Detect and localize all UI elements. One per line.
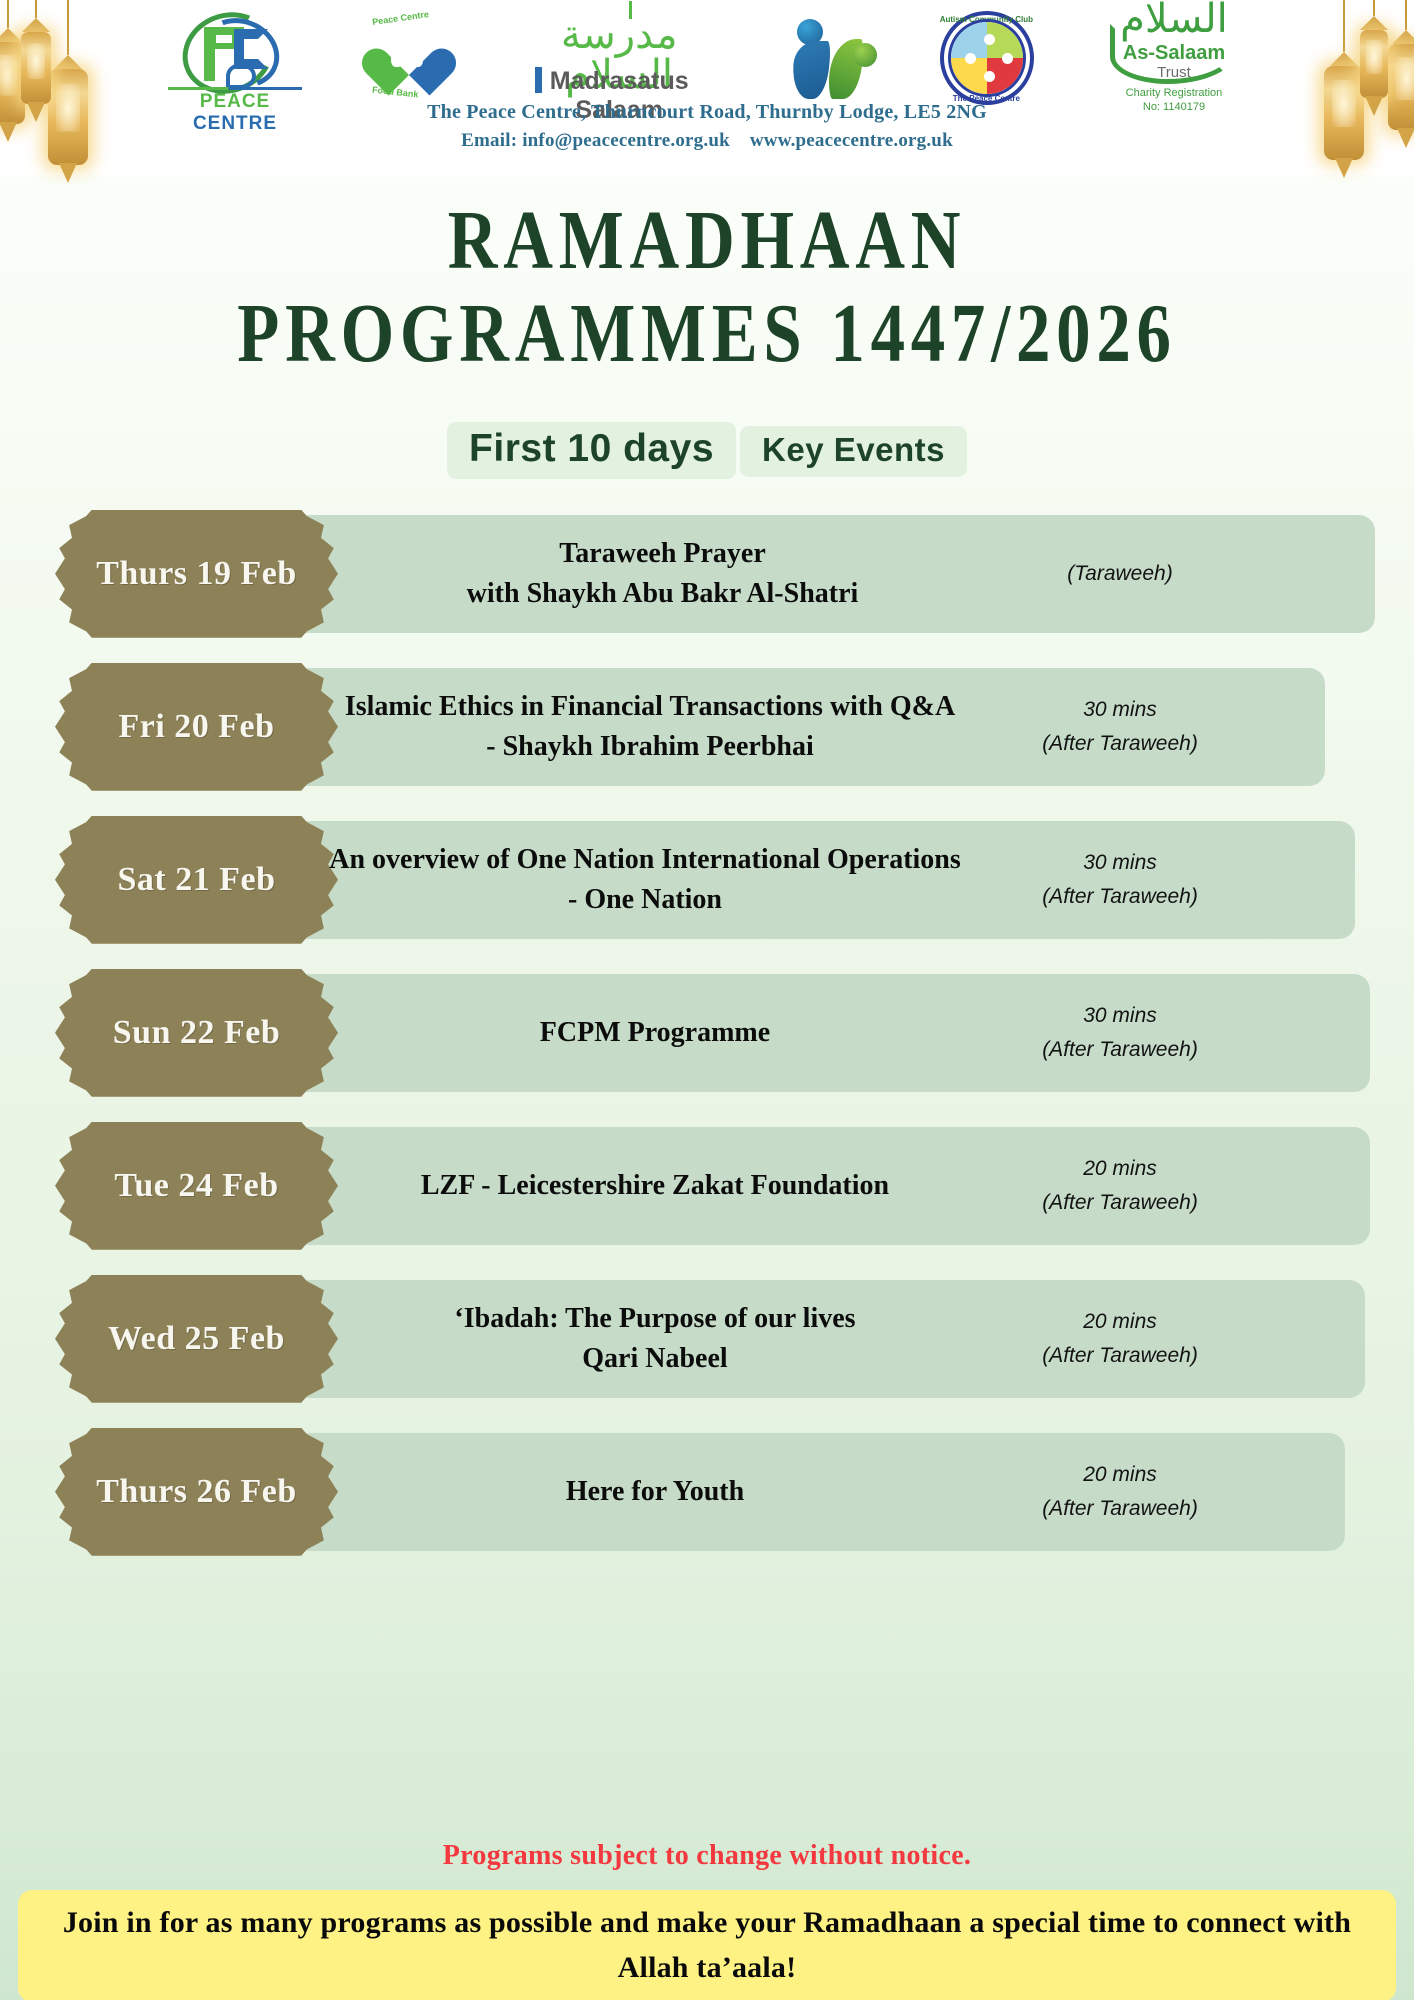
peace-centre-food-bank-logo: Peace Centre Food Bank [366,9,452,109]
event-timing: (After Taraweeh) [1042,1186,1198,1220]
ramadhaan-programme-poster: PEACE CENTRE Peace Centre Food Bank [0,0,1414,2000]
subtitle-badges: First 10 days Key Events [0,412,1414,479]
address-line: The Peace Centre, Thurncourt Road, Thurn… [0,98,1414,127]
event-timing: (Taraweeh) [1067,557,1172,591]
puzzle-knob-top [984,34,995,45]
event-date-label: Thurs 19 Feb [96,555,297,593]
as-salaam-english: As-Salaam [1094,42,1254,65]
event-title-line-1: Taraweeh Prayer [559,534,766,574]
badge-first-10-days: First 10 days [447,422,736,479]
food-bank-arc-top-label: Peace Centre [371,9,429,27]
event-date-badge: Sun 22 Feb [55,969,338,1097]
event-date-badge: Sat 21 Feb [55,816,338,944]
event-duration-note: 30 mins(After Taraweeh) [955,668,1285,786]
cta-line-2: Allah ta’aala! [618,1951,797,1984]
event-date-badge: Wed 25 Feb [55,1275,338,1403]
puzzle-wheel-icon [948,19,1026,97]
event-duration: 20 mins [1083,1152,1157,1186]
event-row: Fri 20 FebIslamic Ethics in Financial Tr… [55,668,1384,786]
email-text[interactable]: Email: info@peacecentre.org.uk [461,130,730,151]
contact-line: Email: info@peacecentre.org.ukwww.peacec… [0,127,1414,155]
call-to-action-banner: Join in for as many programs as possible… [18,1890,1396,2000]
event-row: Tue 24 FebLZF - Leicestershire Zakat Fou… [55,1127,1384,1245]
event-date-label: Thurs 26 Feb [96,1473,297,1511]
event-title: Taraweeh Prayerwith Shaykh Abu Bakr Al-S… [355,515,970,633]
event-duration: 30 mins [1083,846,1157,880]
poster-title-block: RAMADHAAN PROGRAMMES 1447/2026 [0,197,1414,378]
person-body-right-icon [411,51,423,67]
event-duration: 30 mins [1083,999,1157,1033]
event-title-line-1: Islamic Ethics in Financial Transactions… [345,687,955,727]
autism-community-club-logo: Autism Community Club The Peace Centre [936,9,1036,109]
cta-line-1: Join in for as many programs as possible… [63,1906,1351,1939]
event-title-line-2: with Shaykh Abu Bakr Al-Shatri [467,574,859,614]
event-title-line-1: An overview of One Nation International … [329,840,961,880]
website-text[interactable]: www.peacecentre.org.uk [750,130,953,151]
puzzle-knob-left [965,53,976,64]
event-date-label: Wed 25 Feb [108,1320,285,1358]
event-duration: 30 mins [1083,693,1157,727]
person-body-left-icon [391,51,403,67]
event-date-label: Fri 20 Feb [118,708,274,746]
person-head-left-icon [393,41,402,50]
page-title-line-2: PROGRAMMES 1447/2026 [127,290,1286,377]
logo-strip: PEACE CENTRE Peace Centre Food Bank [160,6,1254,111]
event-timing: (After Taraweeh) [1042,727,1198,761]
event-title: ‘Ibadah: The Purpose of our livesQari Na… [355,1280,955,1398]
event-timing: (After Taraweeh) [1042,1339,1198,1373]
two-people-icon [390,39,426,67]
event-duration-note: (Taraweeh) [955,515,1285,633]
event-duration: 20 mins [1083,1305,1157,1339]
event-title-line-2: Qari Nabeel [582,1339,727,1379]
event-title-line-1: FCPM Programme [540,1013,770,1053]
event-title-line-1: ‘Ibadah: The Purpose of our lives [454,1299,855,1339]
event-title: FCPM Programme [355,974,955,1092]
event-duration-note: 30 mins(After Taraweeh) [955,821,1285,939]
pc-letter-p-counter-icon [216,35,232,43]
madrasatus-salaam-logo: مدرسة السلام Madrasatus Salaam [509,9,729,109]
figure-body-icon [791,41,831,99]
event-row: Sun 22 FebFCPM Programme30 mins(After Ta… [55,974,1384,1092]
event-date-badge: Thurs 26 Feb [55,1428,338,1556]
event-title-line-1: LZF - Leicestershire Zakat Foundation [421,1166,889,1206]
pc-swirl-icon [226,63,256,89]
person-head-right-icon [412,41,421,50]
pc-divider-rule [168,87,302,90]
peace-centre-logo: PEACE CENTRE [160,9,308,109]
event-duration-note: 30 mins(After Taraweeh) [955,974,1285,1092]
event-title-line-2: - One Nation [568,880,722,920]
figure-ball-icon [853,43,877,67]
event-title: Here for Youth [355,1433,955,1551]
event-timing: (After Taraweeh) [1042,880,1198,914]
event-duration-note: 20 mins(After Taraweeh) [955,1433,1285,1551]
contact-details: The Peace Centre, Thurncourt Road, Thurn… [0,98,1414,155]
badge-key-events: Key Events [740,426,967,477]
event-row: Sat 21 FebAn overview of One Nation Inte… [55,821,1384,939]
food-bank-arc-bottom-label: Food Bank [371,84,418,99]
disclaimer-text: Programs subject to change without notic… [0,1840,1414,1872]
event-date-label: Tue 24 Feb [114,1167,278,1205]
event-date-badge: Fri 20 Feb [55,663,338,791]
event-row: Thurs 26 FebHere for Youth20 mins(After … [55,1433,1384,1551]
event-title: LZF - Leicestershire Zakat Foundation [345,1127,965,1245]
event-duration: 20 mins [1083,1458,1157,1492]
puzzle-knob-bottom [984,71,995,82]
event-date-label: Sat 21 Feb [118,861,276,899]
as-salaam-trust-sub: Trust [1094,64,1254,81]
event-date-badge: Tue 24 Feb [55,1122,338,1250]
event-timing: (After Taraweeh) [1042,1033,1198,1067]
event-date-badge: Thurs 19 Feb [55,510,338,638]
events-list: Thurs 19 FebTaraweeh Prayerwith Shaykh A… [0,515,1414,1551]
puzzle-knob-right [1002,53,1013,64]
event-title-line-1: Here for Youth [566,1472,744,1512]
event-timing: (After Taraweeh) [1042,1492,1198,1526]
person-figure-logo [787,9,879,109]
event-duration-note: 20 mins(After Taraweeh) [955,1280,1285,1398]
event-duration-note: 20 mins(After Taraweeh) [955,1127,1285,1245]
event-title: An overview of One Nation International … [325,821,965,939]
event-row: Thurs 19 FebTaraweeh Prayerwith Shaykh A… [55,515,1384,633]
event-row: Wed 25 Feb‘Ibadah: The Purpose of our li… [55,1280,1384,1398]
page-title-line-1: RAMADHAAN [127,197,1286,284]
event-title: Islamic Ethics in Financial Transactions… [330,668,970,786]
event-title-line-2: - Shaykh Ibrahim Peerbhai [486,727,814,767]
event-date-label: Sun 22 Feb [113,1014,281,1052]
header-band: PEACE CENTRE Peace Centre Food Bank [0,0,1414,175]
